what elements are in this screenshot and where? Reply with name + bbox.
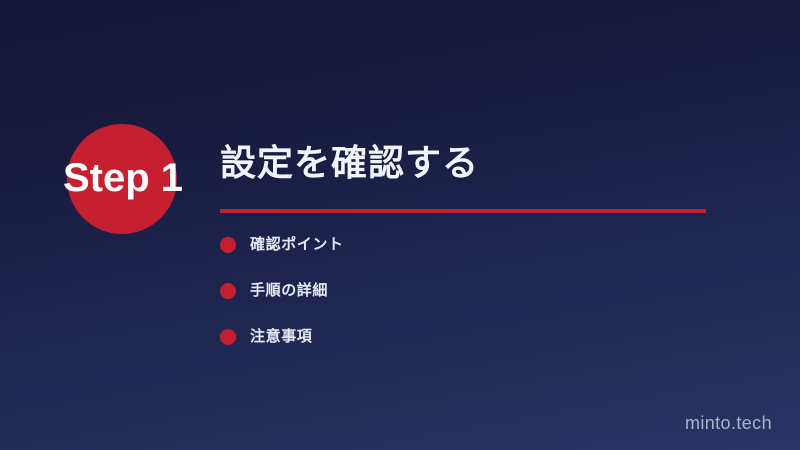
slide-canvas: Step 1 設定を確認する 確認ポイント 手順の詳細 注意事項 minto.t…: [0, 0, 800, 450]
list-item: 注意事項: [220, 325, 740, 348]
bullet-dot-icon: [220, 329, 236, 345]
bullet-dot-icon: [220, 237, 236, 253]
list-item-label: 手順の詳細: [250, 281, 328, 301]
bullet-list: 確認ポイント 手順の詳細 注意事項: [220, 233, 740, 348]
step-badge-label: Step 1: [48, 152, 198, 204]
list-item-label: 注意事項: [250, 327, 312, 347]
footer-brand-label: minto.tech: [685, 413, 772, 434]
bullet-dot-icon: [220, 283, 236, 299]
list-item: 確認ポイント: [220, 233, 740, 256]
title-underline-rule: [220, 209, 706, 213]
list-item: 手順の詳細: [220, 279, 740, 302]
slide-content: 設定を確認する 確認ポイント 手順の詳細 注意事項: [220, 140, 740, 371]
page-title: 設定を確認する: [220, 140, 740, 186]
step-badge: Step 1: [67, 124, 177, 234]
list-item-label: 確認ポイント: [250, 235, 344, 255]
